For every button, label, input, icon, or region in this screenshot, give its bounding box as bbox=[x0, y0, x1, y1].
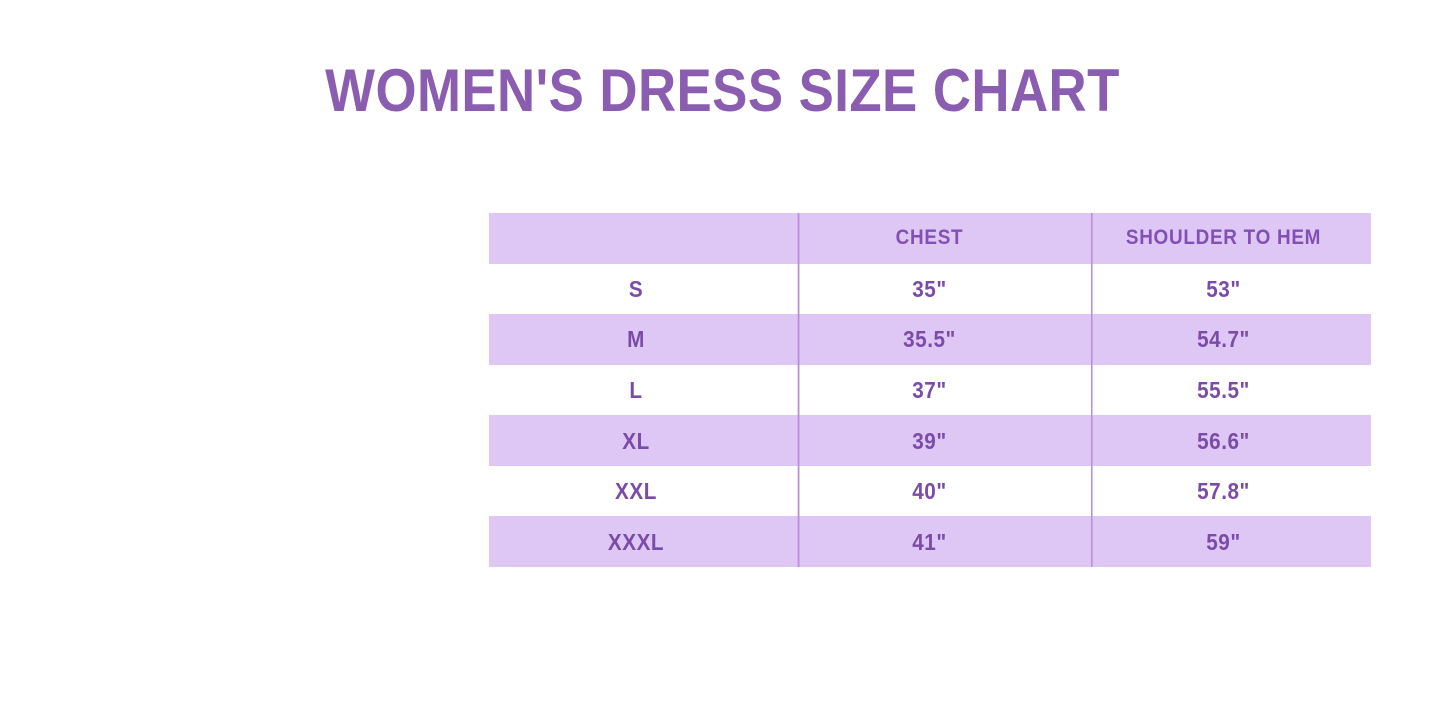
cell-chest: 40" bbox=[798, 466, 1062, 517]
table-body: S 35" 53" M 35.5" 54.7" L 37" 55.5" XL 3… bbox=[489, 264, 1371, 568]
page-title: WOMEN'S DRESS SIZE CHART bbox=[87, 55, 1359, 127]
cell-shoulder-to-hem: 55.5" bbox=[1091, 365, 1357, 416]
cell-shoulder-to-hem: 54.7" bbox=[1091, 314, 1357, 365]
column-header-size bbox=[504, 213, 769, 264]
table-header-row: CHEST SHOULDER TO HEM bbox=[489, 213, 1371, 264]
cell-chest: 35.5" bbox=[798, 314, 1062, 365]
cell-size: M bbox=[504, 314, 769, 365]
column-header-chest: CHEST bbox=[798, 213, 1062, 264]
table-row: XXXL 41" 59" bbox=[489, 516, 1371, 567]
table-row: L 37" 55.5" bbox=[489, 365, 1371, 416]
size-chart-table: CHEST SHOULDER TO HEM S 35" 53" M 35.5" … bbox=[489, 213, 1371, 567]
table-row: XL 39" 56.6" bbox=[489, 415, 1371, 466]
cell-shoulder-to-hem: 56.6" bbox=[1091, 415, 1357, 466]
table-row: S 35" 53" bbox=[489, 264, 1371, 315]
cell-size: XXL bbox=[504, 466, 769, 517]
size-chart-container: CHEST SHOULDER TO HEM S 35" 53" M 35.5" … bbox=[489, 213, 1371, 567]
table-header: CHEST SHOULDER TO HEM bbox=[489, 213, 1371, 264]
cell-size: XXXL bbox=[504, 516, 769, 567]
cell-shoulder-to-hem: 57.8" bbox=[1091, 466, 1357, 517]
cell-shoulder-to-hem: 53" bbox=[1091, 264, 1357, 315]
cell-size: XL bbox=[504, 415, 769, 466]
cell-shoulder-to-hem: 59" bbox=[1091, 516, 1357, 567]
cell-chest: 35" bbox=[798, 264, 1062, 315]
table-row: XXL 40" 57.8" bbox=[489, 466, 1371, 517]
column-header-shoulder-to-hem: SHOULDER TO HEM bbox=[1091, 213, 1357, 264]
cell-size: S bbox=[504, 264, 769, 315]
cell-size: L bbox=[504, 365, 769, 416]
cell-chest: 41" bbox=[798, 516, 1062, 567]
cell-chest: 37" bbox=[798, 365, 1062, 416]
table-row: M 35.5" 54.7" bbox=[489, 314, 1371, 365]
cell-chest: 39" bbox=[798, 415, 1062, 466]
